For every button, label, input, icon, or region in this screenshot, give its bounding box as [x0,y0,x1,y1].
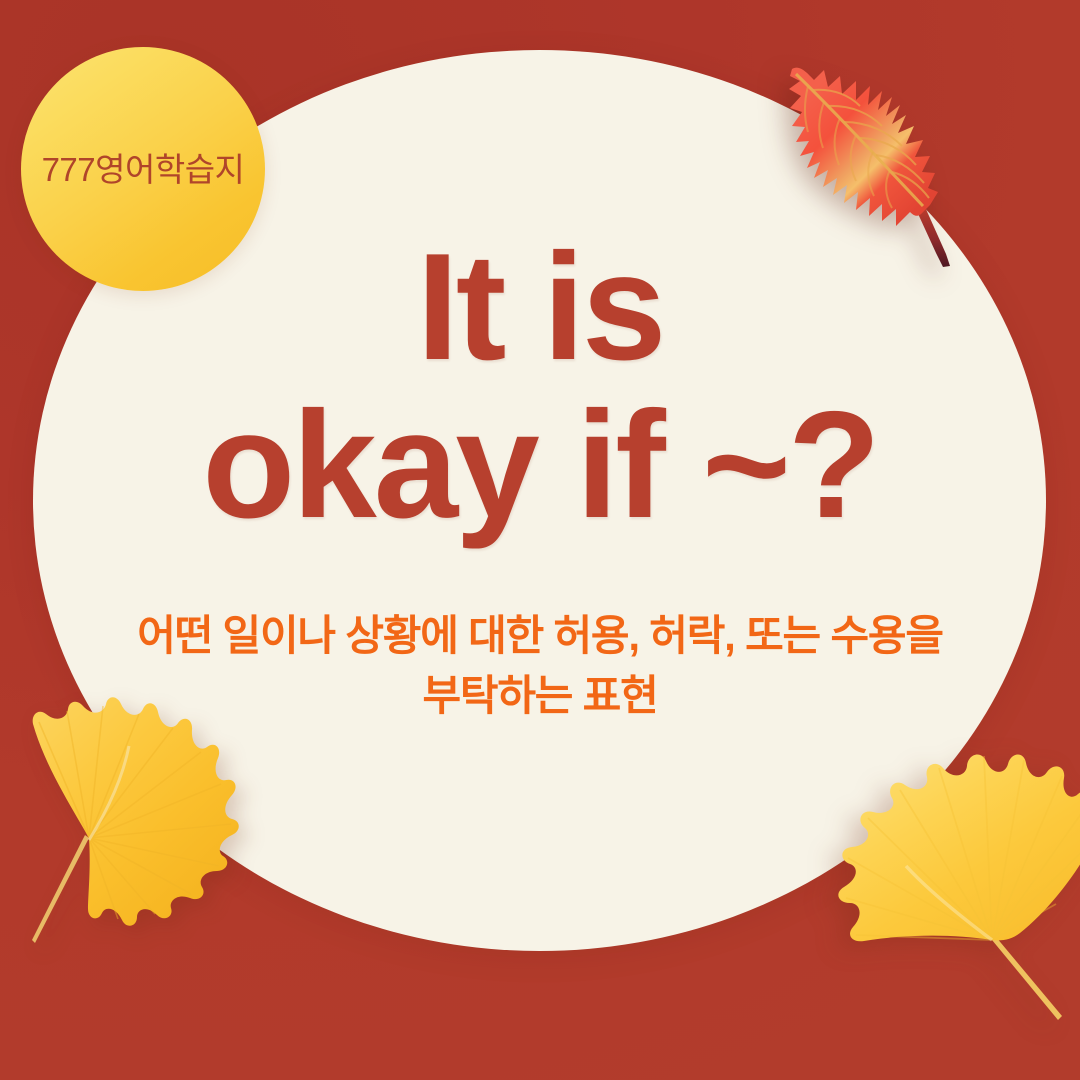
brand-badge: 777영어학습지 [21,47,265,291]
red-maple-leaf-icon [778,48,1008,316]
ginkgo-leaf-icon [5,690,245,980]
brand-badge-label: 777영어학습지 [42,153,245,186]
ginkgo-leaf-icon [756,690,1080,1035]
study-card: 777영어학습지 It is okay if ~? 어떤 일이나 상황에 대한 … [0,0,1080,1080]
